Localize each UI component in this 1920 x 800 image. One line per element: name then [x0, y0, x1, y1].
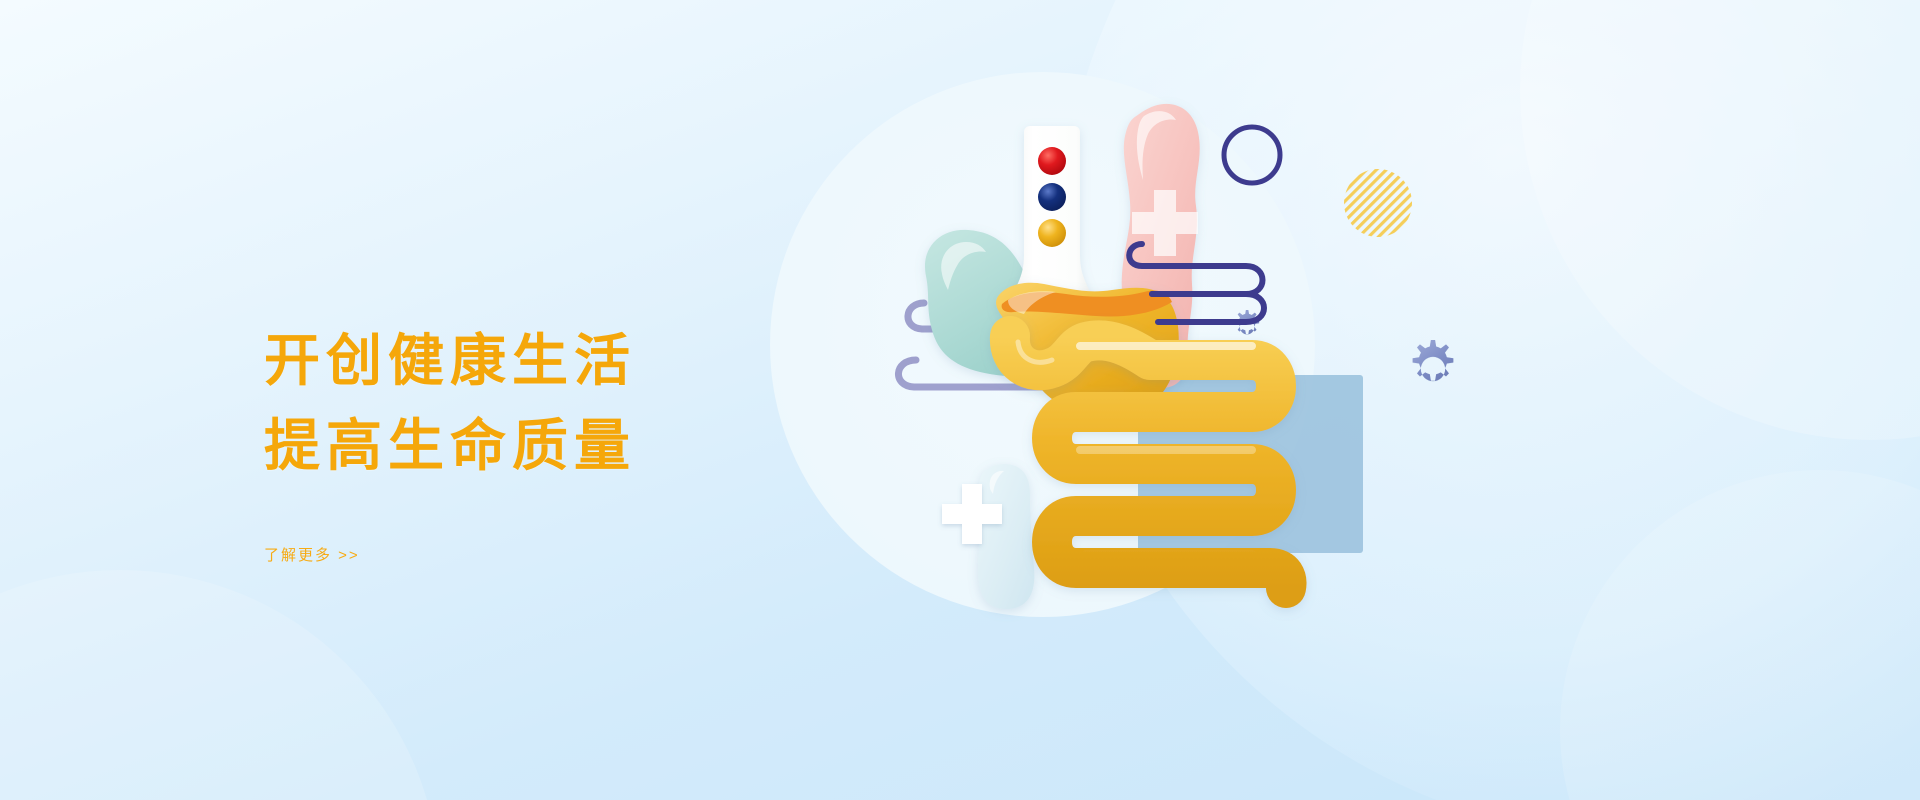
learn-more-link[interactable]: 了解更多 >>: [264, 544, 360, 565]
hero-banner: 开创健康生活 提高生命质量 了解更多 >>: [0, 0, 1920, 800]
background-circle-bottom-left: [0, 570, 440, 800]
gear-large-icon: [1413, 340, 1454, 381]
test-tube-dots: [1038, 147, 1066, 247]
dot-yellow: [1038, 219, 1066, 247]
circle-outline-icon: [1224, 127, 1280, 183]
headline-line-1: 开创健康生活: [264, 318, 824, 403]
hero-copy: 开创健康生活 提高生命质量 了解更多 >>: [264, 318, 824, 565]
striped-circle-icon: [1344, 169, 1412, 237]
dot-red: [1038, 147, 1066, 175]
digestive-system-illustration: [880, 60, 1600, 740]
headline-line-2: 提高生命质量: [264, 403, 824, 488]
background-circle-bottom-right: [1560, 470, 1920, 800]
dot-navy: [1038, 183, 1066, 211]
pale-blue-organ: [978, 464, 1034, 609]
intestine-coil: [1010, 336, 1287, 588]
